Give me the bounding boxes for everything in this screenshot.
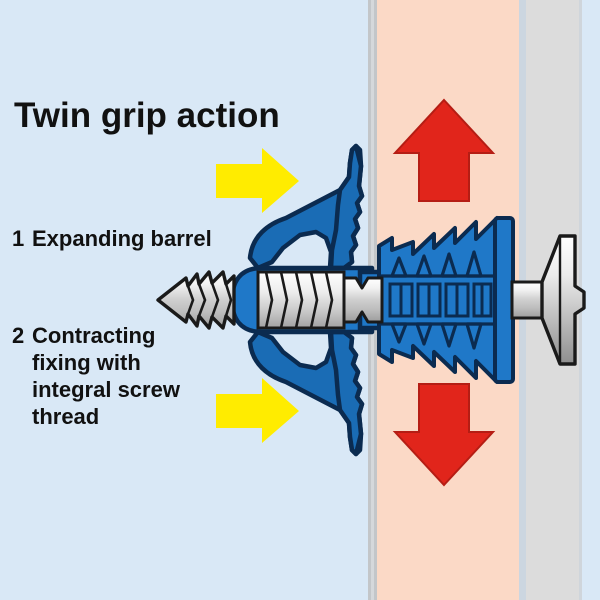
page-title: Twin grip action [14, 96, 280, 135]
callout-1-number: 1 [12, 226, 24, 251]
callout-2-label-line-1: Contracting [32, 323, 155, 348]
callout-2-label-line-2: fixing with [32, 350, 141, 375]
plug-expansion-slots [390, 284, 491, 316]
screw-shank-outer [512, 282, 542, 318]
screw-shank [344, 278, 382, 322]
callout-2-number: 2 [12, 323, 24, 348]
screw-thread-internal [258, 272, 344, 328]
plug-collar [495, 218, 513, 382]
diagram-canvas: Twin grip action 1 Expanding barrel 2 Co… [0, 0, 600, 600]
callout-2-label-line-3: integral screw [32, 377, 181, 402]
callout-2-label-line-4: thread [32, 404, 99, 429]
twin-grip-action-illustration: Twin grip action 1 Expanding barrel 2 Co… [0, 0, 600, 600]
callout-1-label: Expanding barrel [32, 226, 212, 251]
